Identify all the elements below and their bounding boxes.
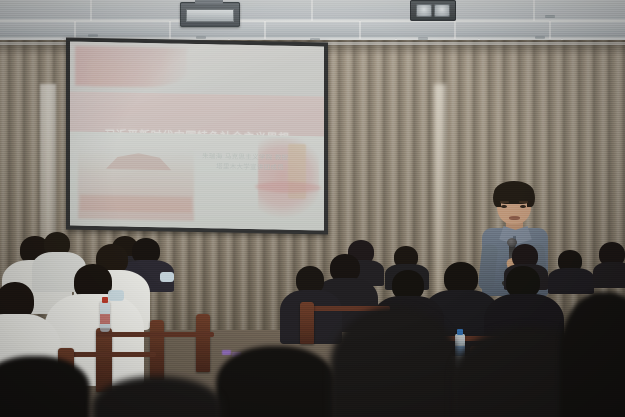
- foreground-silhouette: [560, 292, 625, 417]
- wooden-chair: [196, 314, 210, 372]
- face-mask-icon: [160, 272, 174, 282]
- foreground-silhouette: [216, 346, 336, 417]
- slide-subtitle: 朱瑞海 马克思主义学院 教授 塔里木大学宣讲团成员: [202, 151, 288, 173]
- lecture-hall-photo: 习近平新时代中国特色社会主义思想 朱瑞海 马克思主义学院 教授 塔里木大学宣讲团…: [0, 0, 625, 417]
- slide-subtitle-line2: 塔里木大学宣讲团成员: [202, 161, 288, 173]
- slide-subtitle-line1: 朱瑞海 马克思主义学院 教授: [202, 151, 288, 163]
- foreground-silhouette: [330, 306, 460, 417]
- ceiling-spotlight-icon: [410, 0, 456, 21]
- phone-screen-glow: [222, 350, 231, 355]
- seated-audience: [0, 236, 625, 417]
- wooden-chair: [300, 302, 314, 344]
- projection-screen: 习近平新时代中国特色社会主义思想 朱瑞海 马克思主义学院 教授 塔里木大学宣讲团…: [66, 37, 328, 234]
- presentation-slide: 习近平新时代中国特色社会主义思想 朱瑞海 马克思主义学院 教授 塔里木大学宣讲团…: [70, 42, 324, 231]
- chair-rail: [96, 332, 214, 337]
- chair-rail: [60, 352, 156, 357]
- wooden-chair: [150, 320, 164, 380]
- water-bottle: [100, 302, 110, 332]
- wooden-chair: [96, 328, 112, 392]
- face-mask-icon: [108, 290, 124, 301]
- ceiling-projector-icon: [180, 2, 240, 27]
